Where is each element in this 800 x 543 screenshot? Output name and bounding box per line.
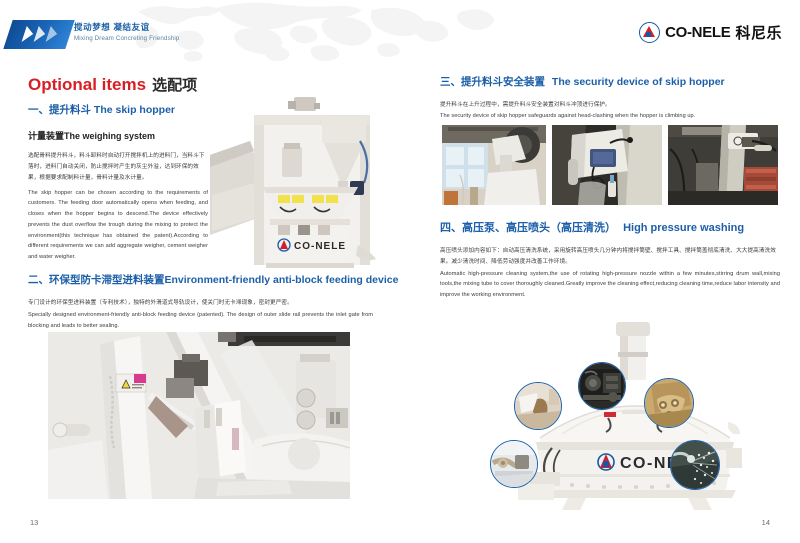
circle-photo-water-spray <box>670 440 720 490</box>
page-header: 搅动梦想 凝结友谊 Mixing Dream Concreting Friend… <box>0 0 800 62</box>
brand-lockup: CO-NELE 科尼乐 <box>639 22 782 43</box>
section3-heading-english: The security device of skip hopper <box>552 76 725 88</box>
brand-name-chinese: 科尼乐 <box>735 22 782 43</box>
left-page: Optional items选配项 一、提升料斗 The skip hopper… <box>0 62 400 543</box>
section1-heading: 一、提升料斗 The skip hopper <box>28 104 208 117</box>
section-high-pressure-washing: 四、高压泵、高压喷头（高压清洗） High pressure washing 高… <box>440 222 780 301</box>
circle-photo-pump-unit <box>578 362 626 410</box>
security-device-photo-2 <box>552 125 662 205</box>
header-tagline: 搅动梦想 凝结友谊 Mixing Dream Concreting Friend… <box>74 22 180 42</box>
co-nele-badge-icon <box>639 22 660 43</box>
anti-block-feeding-photo <box>48 332 350 499</box>
section1-body-english: The skip hopper can be chosen according … <box>28 188 208 263</box>
page-number-right: 14 <box>762 518 770 527</box>
section4-heading-english: High pressure washing <box>623 222 744 234</box>
page-title-english: Optional items <box>28 75 146 94</box>
section1-body-chinese: 选配骨料提升料斗，料斗卸料时自动打开搅拌机上的进料门，当料斗下落时，进料门自动关… <box>28 151 208 183</box>
circle-photo-valve-assembly <box>490 440 538 488</box>
right-page: 三、提升料斗安全装置 The security device of skip h… <box>400 62 800 543</box>
section3-heading-chinese: 三、提升料斗安全装置 <box>440 76 545 88</box>
circle-photo-nozzle-detail <box>514 382 562 430</box>
tagline-chinese: 搅动梦想 凝结友谊 <box>74 22 180 33</box>
section3-body-chinese: 提升料斗在上升过程中，需提升料斗安全装置对料斗冲顶进行保护。 <box>440 100 780 111</box>
security-device-photo-1 <box>442 125 546 205</box>
skip-hopper-photo: CO-NELE <box>210 95 392 280</box>
page-title: Optional items选配项 <box>28 74 197 95</box>
section3-body-english: The security device of skip hopper safeg… <box>440 111 780 122</box>
security-device-photo-3 <box>668 125 778 205</box>
section-anti-block-feeding: 二、环保型防卡滞型进料装置Environment-friendly anti-b… <box>28 274 373 332</box>
page-number-left: 13 <box>30 518 38 527</box>
section4-body-english: Automatic high-pressure cleaning system,… <box>440 269 780 301</box>
brand-name-english: CO-NELE <box>665 24 730 41</box>
tagline-english: Mixing Dream Concreting Friendship <box>74 35 180 43</box>
section2-body-english: Specially designed environment-friendly … <box>28 310 373 331</box>
company-chevron-logo-icon <box>3 20 74 49</box>
section4-body-chinese: 高压喷头添加内容如下：自动高压清洗系统，采用旋转高压喷头几分钟内将搅拌筒壁、搅拌… <box>440 246 780 267</box>
section-skip-hopper: 一、提升料斗 The skip hopper 计量装置The weighing … <box>28 104 208 263</box>
section4-heading: 四、高压泵、高压喷头（高压清洗） High pressure washing <box>440 222 780 235</box>
section2-body-chinese: 专门设计的环保型进料装置（专利技术），独特的外滑道式导轨设计，使关门时无卡滞现象… <box>28 298 373 309</box>
circle-photo-rotating-head <box>644 378 694 428</box>
section4-heading-chinese: 四、高压泵、高压喷头（高压清洗） <box>440 222 616 234</box>
page-title-chinese: 选配项 <box>152 77 197 94</box>
world-map-watermark <box>120 0 540 62</box>
section1-subheading: 计量装置The weighing system <box>28 131 208 142</box>
section3-heading: 三、提升料斗安全装置 The security device of skip h… <box>440 76 780 89</box>
section2-heading: 二、环保型防卡滞型进料装置Environment-friendly anti-b… <box>28 274 373 287</box>
section-security-device: 三、提升料斗安全装置 The security device of skip h… <box>440 76 780 122</box>
svg-text:CO-NELE: CO-NELE <box>294 241 346 252</box>
